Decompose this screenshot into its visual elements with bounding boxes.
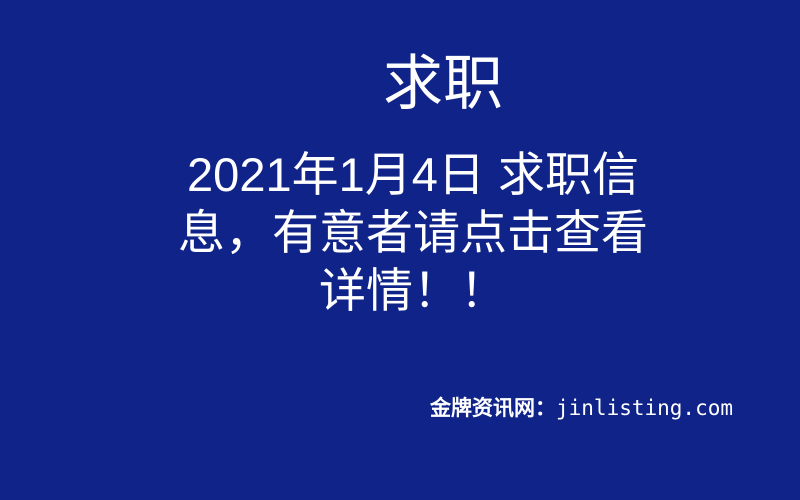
page-title: 求职 xyxy=(383,52,503,115)
poster-title-block: 求职 xyxy=(0,52,800,115)
poster-footer-block: 金牌资讯网：jinlisting.com xyxy=(430,392,760,422)
poster-canvas: 求职 2021年1月4日 求职信息，有意者请点击查看详情！！ 金牌资讯网：jin… xyxy=(0,0,800,500)
footer-site-name: 金牌资讯网： xyxy=(430,397,556,420)
poster-message-text: 2021年1月4日 求职信息，有意者请点击查看详情！！ xyxy=(178,146,648,320)
footer-site-url: jinlisting.com xyxy=(556,396,733,420)
poster-message-block: 2021年1月4日 求职信息，有意者请点击查看详情！！ xyxy=(178,146,648,320)
